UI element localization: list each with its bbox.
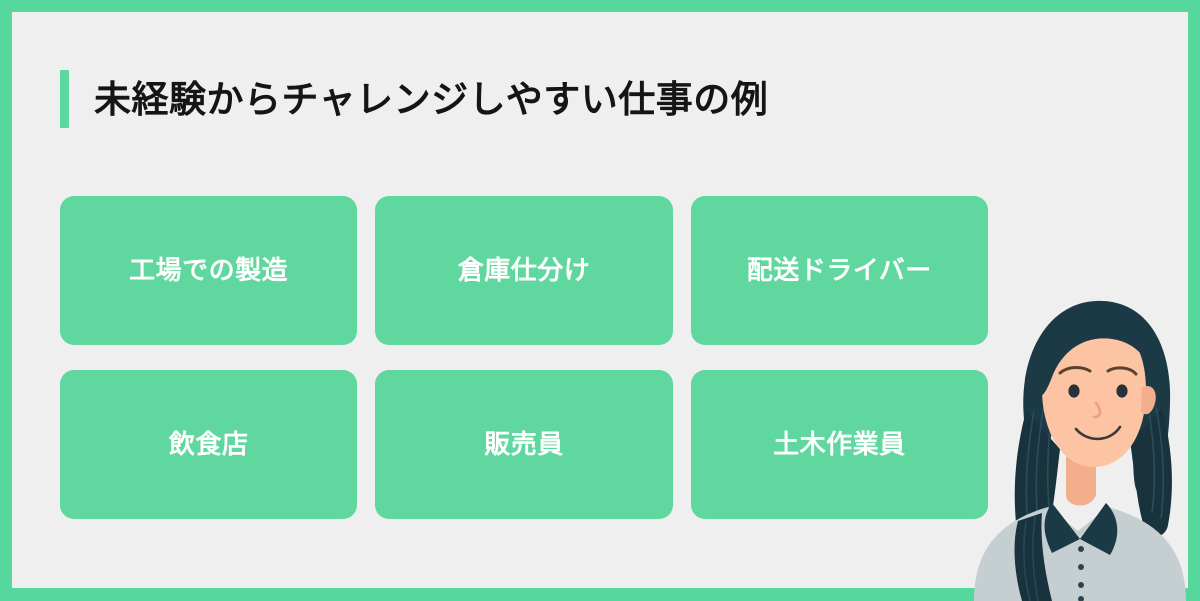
page-title: 未経験からチャレンジしやすい仕事の例	[60, 70, 768, 128]
content-panel: 未経験からチャレンジしやすい仕事の例 工場での製造 倉庫仕分け 配送ドライバー …	[12, 12, 1188, 588]
job-card-label: 配送ドライバー	[747, 255, 932, 286]
poster-canvas: 未経験からチャレンジしやすい仕事の例 工場での製造 倉庫仕分け 配送ドライバー …	[0, 0, 1200, 601]
job-card-label: 倉庫仕分け	[458, 255, 591, 286]
job-card-label: 飲食店	[169, 429, 249, 460]
job-card-civil-engineering-worker[interactable]: 土木作業員	[691, 370, 988, 519]
job-card-factory-manufacturing[interactable]: 工場での製造	[60, 196, 357, 345]
job-card-sales-staff[interactable]: 販売員	[375, 370, 672, 519]
job-card-restaurant[interactable]: 飲食店	[60, 370, 357, 519]
job-card-warehouse-sorting[interactable]: 倉庫仕分け	[375, 196, 672, 345]
job-card-label: 販売員	[484, 429, 564, 460]
job-card-delivery-driver[interactable]: 配送ドライバー	[691, 196, 988, 345]
job-card-label: 工場での製造	[129, 255, 288, 286]
page-title-text: 未経験からチャレンジしやすい仕事の例	[94, 81, 768, 118]
job-card-grid: 工場での製造 倉庫仕分け 配送ドライバー 飲食店 販売員 土木作業員	[60, 196, 988, 519]
job-card-label: 土木作業員	[773, 429, 906, 460]
title-accent-bar	[60, 70, 69, 128]
